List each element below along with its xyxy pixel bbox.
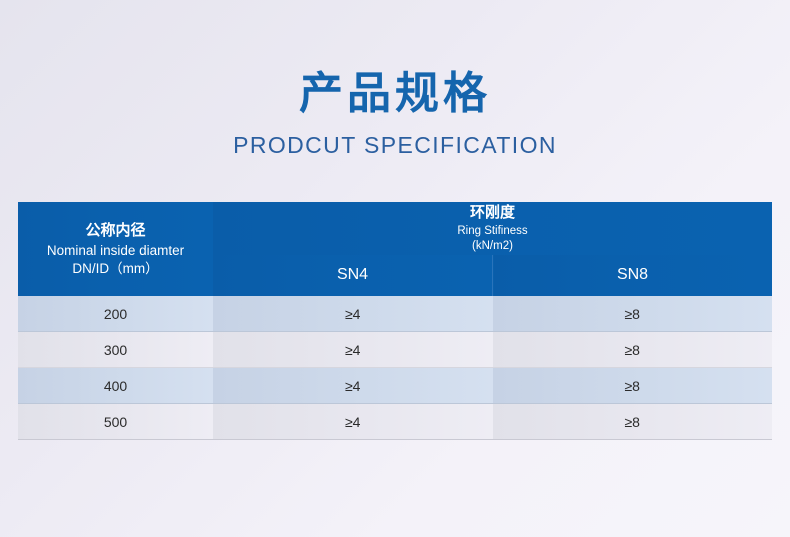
table-body: 200 ≥4 ≥8 300 ≥4 ≥8 400 ≥4 ≥8 500 ≥4 ≥8 xyxy=(18,296,772,440)
table-row: 200 ≥4 ≥8 xyxy=(18,296,772,332)
header-cell-ring-stiffness: 环刚度 Ring Stifiness (kN/m2) xyxy=(213,202,772,255)
header-label-cn-nominal-diameter: 公称内径 xyxy=(18,220,213,242)
header-label-cn-ring-stiffness: 环刚度 xyxy=(213,202,772,224)
table-header-row-top: 公称内径 Nominal inside diamter DN/ID（mm） 环刚… xyxy=(18,202,772,255)
cell-sn4: ≥4 xyxy=(213,368,493,404)
header-cell-sn4: SN4 xyxy=(213,255,493,296)
cell-sn8: ≥8 xyxy=(493,404,773,440)
table-row: 400 ≥4 ≥8 xyxy=(18,368,772,404)
page-title-en: PRODCUT SPECIFICATION xyxy=(0,132,790,159)
header-cell-nominal-inside-diameter: 公称内径 Nominal inside diamter DN/ID（mm） xyxy=(18,202,213,296)
header-label-unit-ring-stiffness: (kN/m2) xyxy=(213,239,772,255)
cell-sn8: ≥8 xyxy=(493,332,773,368)
header-cell-sn8: SN8 xyxy=(493,255,773,296)
specification-table: 公称内径 Nominal inside diamter DN/ID（mm） 环刚… xyxy=(18,202,772,440)
cell-nominal-diameter: 300 xyxy=(18,332,213,368)
table-header: 公称内径 Nominal inside diamter DN/ID（mm） 环刚… xyxy=(18,202,772,296)
cell-sn4: ≥4 xyxy=(213,332,493,368)
cell-sn8: ≥8 xyxy=(493,296,773,332)
table-row: 300 ≥4 ≥8 xyxy=(18,332,772,368)
page-title-cn: 产品规格 xyxy=(0,68,790,120)
cell-nominal-diameter: 200 xyxy=(18,296,213,332)
cell-sn4: ≥4 xyxy=(213,296,493,332)
page-heading: 产品规格 PRODCUT SPECIFICATION xyxy=(0,0,790,159)
specification-table-wrapper: 公称内径 Nominal inside diamter DN/ID（mm） 环刚… xyxy=(18,202,772,440)
cell-nominal-diameter: 500 xyxy=(18,404,213,440)
header-label-en-nominal-diameter: Nominal inside diamter xyxy=(18,242,213,260)
header-label-unit-nominal-diameter: DN/ID（mm） xyxy=(18,260,213,278)
cell-sn4: ≥4 xyxy=(213,404,493,440)
header-label-en-ring-stiffness: Ring Stifiness xyxy=(213,224,772,240)
table-row: 500 ≥4 ≥8 xyxy=(18,404,772,440)
cell-nominal-diameter: 400 xyxy=(18,368,213,404)
cell-sn8: ≥8 xyxy=(493,368,773,404)
